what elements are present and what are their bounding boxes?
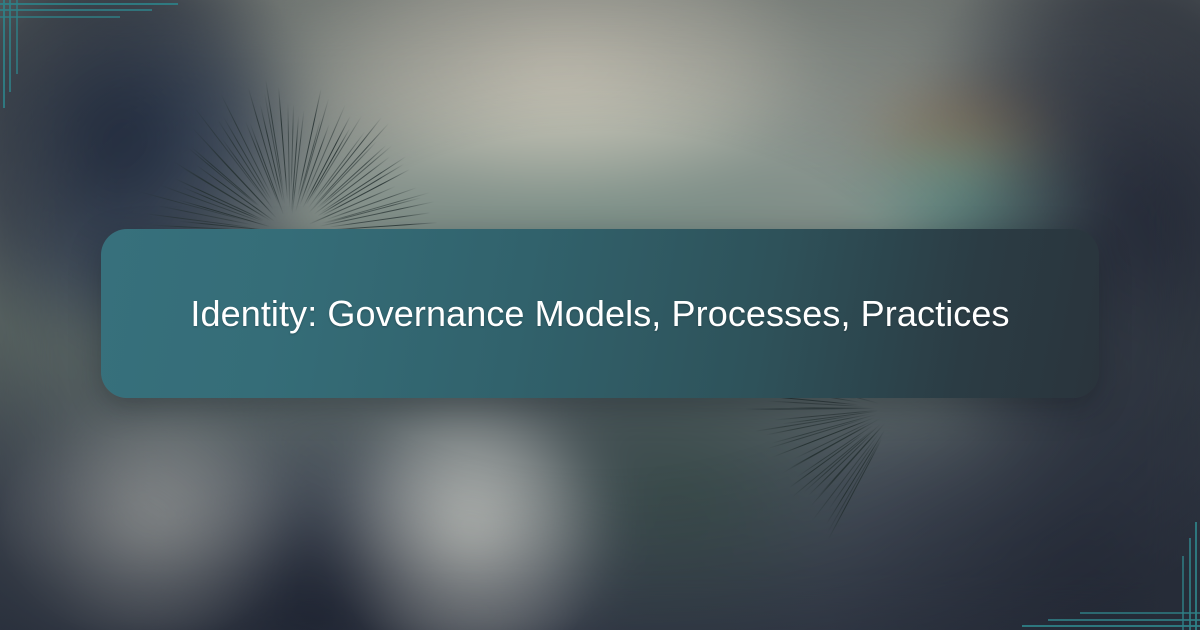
starburst-ray xyxy=(828,439,882,540)
starburst-ray xyxy=(306,128,351,205)
starburst-ray xyxy=(208,146,276,219)
starburst-ray xyxy=(287,103,290,208)
corner-bracket-bottom-right-icon xyxy=(1000,510,1200,630)
starburst-ray xyxy=(797,425,873,477)
starburst-ray xyxy=(314,156,390,214)
starburst-ray xyxy=(191,127,270,212)
starburst-ray xyxy=(775,410,878,421)
starburst-ray xyxy=(319,145,393,208)
starburst-ray xyxy=(767,419,864,450)
starburst-ray xyxy=(295,118,321,212)
starburst-ray xyxy=(325,197,421,223)
starburst-ray xyxy=(191,147,260,207)
starburst-ray xyxy=(308,132,365,209)
starburst-ray xyxy=(291,104,294,191)
starburst-ray xyxy=(789,433,864,488)
starburst-ray xyxy=(220,94,271,196)
starburst-ray xyxy=(309,186,395,225)
starburst-ray xyxy=(181,166,266,218)
starburst-ray xyxy=(292,110,305,215)
starburst-ray xyxy=(245,122,279,205)
starburst-ray xyxy=(789,420,867,451)
corner-bracket-line-vertical xyxy=(3,0,5,108)
corner-bracket-line-vertical xyxy=(16,0,18,74)
starburst-ray xyxy=(818,428,881,497)
starburst-ray xyxy=(221,137,274,210)
starburst-ray xyxy=(313,123,389,206)
starburst-ray xyxy=(773,417,875,457)
starburst-ray xyxy=(320,156,405,212)
starburst-ray xyxy=(791,429,874,498)
starburst-ray xyxy=(322,169,410,216)
starburst-ray xyxy=(173,161,272,222)
starburst-ray xyxy=(159,184,262,222)
starburst-ray xyxy=(746,408,859,410)
starburst-ray xyxy=(291,115,299,211)
starburst-ray xyxy=(320,201,434,226)
starburst-ray xyxy=(782,411,877,425)
starburst-ray xyxy=(157,205,252,225)
corner-bracket-line-vertical xyxy=(9,0,11,92)
corner-bracket-line-vertical xyxy=(1189,538,1191,630)
starburst-ray xyxy=(330,212,431,227)
starburst-ray xyxy=(188,147,259,206)
starburst-ray xyxy=(137,191,251,223)
starburst-ray xyxy=(183,187,263,222)
starburst-ray xyxy=(755,415,855,432)
starburst-ray xyxy=(789,425,866,468)
starburst-ray xyxy=(249,123,284,215)
starburst-ray xyxy=(810,423,885,507)
starburst-ray xyxy=(175,178,264,221)
starburst-ray xyxy=(826,436,882,534)
starburst-ray xyxy=(770,414,876,444)
starburst-ray xyxy=(177,199,270,227)
starburst-ray xyxy=(193,106,264,199)
starburst-ray xyxy=(828,439,877,509)
starburst-ray xyxy=(808,434,872,496)
starburst-ray xyxy=(278,87,288,200)
starburst-ray xyxy=(195,164,275,222)
corner-bracket-line-horizontal xyxy=(0,3,178,5)
starburst-ray xyxy=(308,141,377,214)
starburst-ray xyxy=(812,432,881,521)
starburst-ray xyxy=(264,93,285,204)
starburst-ray xyxy=(297,89,321,198)
starburst-ray xyxy=(260,104,284,202)
corner-bracket-line-horizontal xyxy=(0,16,120,18)
page-title: Identity: Governance Models, Processes, … xyxy=(190,286,1009,342)
starburst-ray xyxy=(300,98,330,198)
banner-canvas: Identity: Governance Models, Processes, … xyxy=(0,0,1200,630)
corner-bracket-line-horizontal xyxy=(1048,619,1200,621)
starburst-ray xyxy=(765,414,870,436)
corner-bracket-line-vertical xyxy=(1195,522,1197,630)
corner-bracket-top-left-icon xyxy=(0,0,200,120)
starburst-ray xyxy=(222,116,272,201)
starburst-ray xyxy=(303,116,351,208)
starburst-ray xyxy=(794,421,872,459)
starburst-ray xyxy=(789,407,874,409)
starburst-ray xyxy=(316,144,387,208)
starburst-ray xyxy=(327,187,417,220)
starburst-ray xyxy=(316,117,382,200)
starburst-ray xyxy=(247,87,280,198)
starburst-ray xyxy=(217,119,269,200)
starburst-ray xyxy=(782,417,882,473)
starburst-ray xyxy=(265,79,284,191)
starburst-ray xyxy=(304,105,346,200)
starburst-ray xyxy=(826,430,885,525)
starburst-ray xyxy=(322,192,430,224)
starburst-ray xyxy=(803,424,881,493)
title-card: Identity: Governance Models, Processes, … xyxy=(101,229,1099,398)
corner-bracket-line-horizontal xyxy=(0,9,152,11)
corner-bracket-line-vertical xyxy=(1182,556,1184,630)
starburst-ray xyxy=(144,213,251,228)
corner-bracket-line-horizontal xyxy=(1022,625,1200,627)
starburst-ray xyxy=(299,124,329,206)
starburst-ray xyxy=(767,400,863,407)
starburst-ray xyxy=(310,116,362,200)
corner-bracket-line-horizontal xyxy=(1080,612,1200,614)
starburst-ray xyxy=(317,163,404,216)
